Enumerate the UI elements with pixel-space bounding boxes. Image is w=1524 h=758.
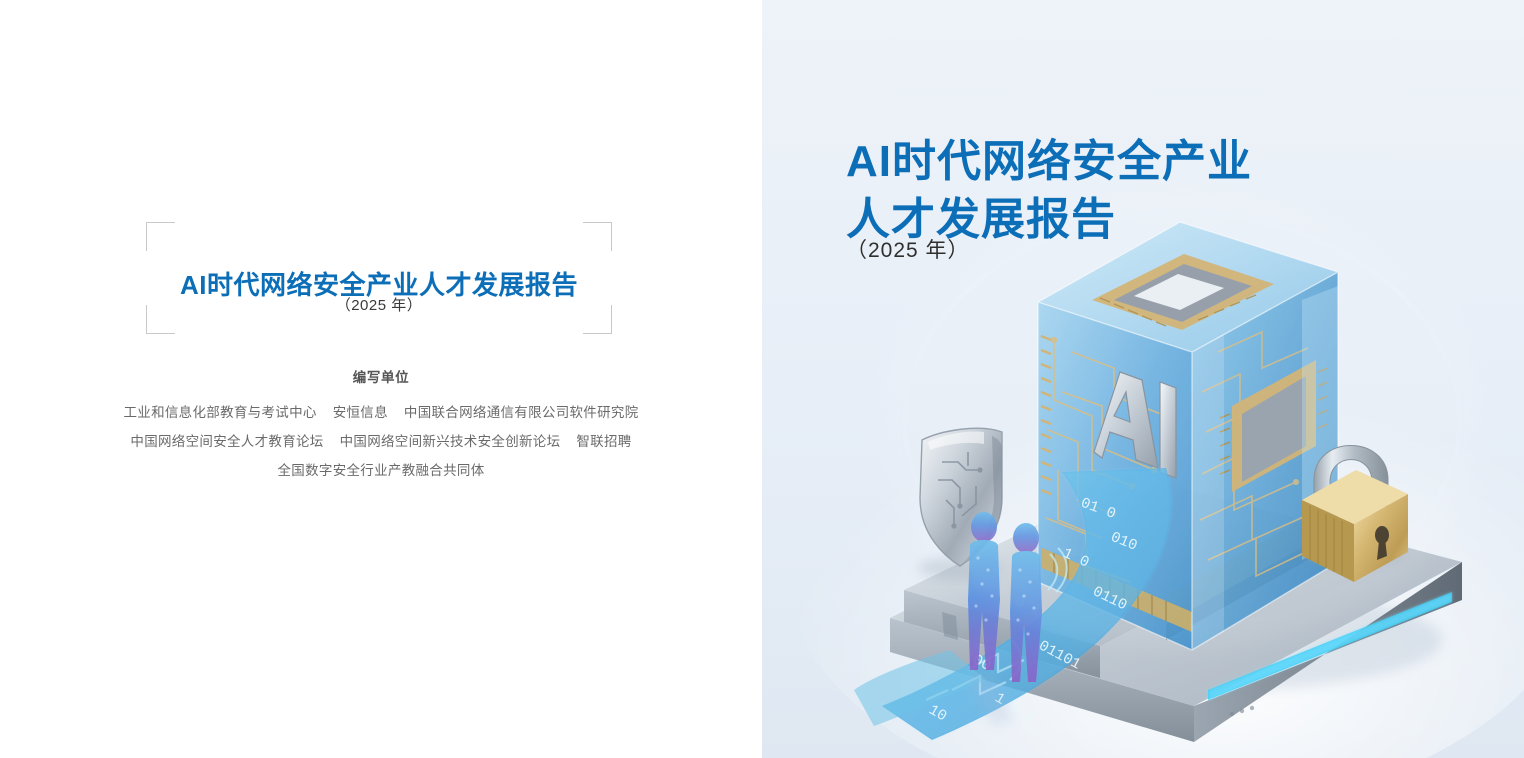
title-frame: AI时代网络安全产业人才发展报告 （2025 年）: [146, 222, 612, 334]
credits-heading: 编写单位: [60, 366, 702, 386]
credit-org: 中国网络空间新兴技术安全创新论坛: [340, 434, 561, 449]
cover-page: AI时代网络安全产业 人才发展报告 （2025 年）: [762, 0, 1524, 758]
credits-line-1: 工业和信息化部教育与考试中心安恒信息中国联合网络通信有限公司软件研究院: [60, 398, 702, 427]
cover-page-title: AI时代网络安全产业 人才发展报告: [846, 133, 1252, 249]
credit-org: 智联招聘: [576, 434, 631, 449]
cover-page-subtitle: （2025 年）: [846, 234, 970, 264]
inner-page-subtitle: （2025 年）: [146, 294, 612, 315]
credit-org: 全国数字安全行业产教融合共同体: [278, 463, 485, 478]
credits-line-3: 全国数字安全行业产教融合共同体: [60, 456, 702, 485]
frame-corner-top-right: [583, 222, 612, 251]
report-cover-spread: AI时代网络安全产业人才发展报告 （2025 年） 编写单位 工业和信息化部教育…: [0, 0, 1524, 758]
scene-ambient-glow: [882, 190, 1482, 650]
credit-org: 安恒信息: [333, 405, 388, 420]
ai-security-illustration: 01 0 010 1 0 0110 0 1 01101 00 1 0 1 10: [762, 0, 1524, 758]
credits-line-2: 中国网络空间安全人才教育论坛中国网络空间新兴技术安全创新论坛智联招聘: [60, 427, 702, 456]
credit-org: 工业和信息化部教育与考试中心: [123, 405, 316, 420]
credit-org: 中国网络空间安全人才教育论坛: [130, 434, 323, 449]
platform-step-slot: [942, 612, 958, 640]
frame-corner-top-left: [146, 222, 175, 251]
inner-title-page: AI时代网络安全产业人才发展报告 （2025 年） 编写单位 工业和信息化部教育…: [0, 0, 762, 758]
credit-org: 中国联合网络通信有限公司软件研究院: [404, 405, 639, 420]
credits-block: 编写单位 工业和信息化部教育与考试中心安恒信息中国联合网络通信有限公司软件研究院…: [60, 366, 702, 485]
